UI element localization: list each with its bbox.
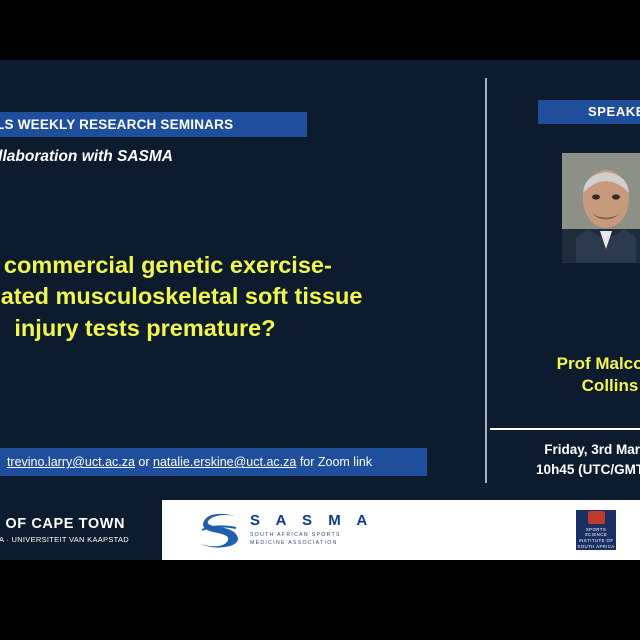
sasma-logo: S A S M A SOUTH AFRICAN SPORTS MEDICINE … — [188, 508, 438, 552]
sasma-name: S A S M A — [250, 512, 373, 529]
slide-canvas: HPALS WEEKLY RESEARCH SEMINARS In collab… — [0, 60, 640, 560]
speaker-name-line-2: Collins — [520, 375, 640, 397]
speaker-portrait — [562, 153, 640, 263]
seminar-date: Friday, 3rd March — [500, 440, 640, 460]
collaboration-text: In collaboration with SASMA — [0, 148, 173, 166]
uct-logo-subtitle: IYUNIVESITHI YASEKAPA · UNIVERSITEIT VAN… — [0, 535, 129, 544]
uct-logo-name: UNIVERSITY OF CAPE TOWN — [0, 516, 125, 532]
contact-email-1[interactable]: trevino.larry@uct.ac.za — [7, 455, 135, 469]
horizontal-rule — [490, 428, 640, 430]
speaker-banner: SPEAKER — [538, 100, 640, 124]
speaker-name: Prof Malcolm Collins — [520, 353, 640, 397]
contact-suffix: for Zoom link — [296, 455, 372, 469]
seminar-banner-label: HPALS WEEKLY RESEARCH SEMINARS — [0, 112, 307, 137]
presentation-slide: HPALS WEEKLY RESEARCH SEMINARS In collab… — [0, 60, 640, 560]
contact-bar: trevino.larry@uct.ac.za or natalie.erski… — [0, 448, 427, 476]
ssisa-label: SPORTS SCIENCE INSTITUTE OF SOUTH AFRICA — [576, 527, 616, 550]
sasma-tagline-line-1: SOUTH AFRICAN SPORTS — [250, 532, 373, 540]
contact-email-2[interactable]: natalie.erskine@uct.ac.za — [153, 455, 296, 469]
speaker-name-line-1: Prof Malcolm — [520, 353, 640, 375]
ssisa-badge-icon — [588, 511, 605, 524]
uct-logo: UNIVERSITY OF CAPE TOWN IYUNIVESITHI YAS… — [0, 500, 162, 560]
seminar-title: Are commercial genetic exercise-associat… — [0, 250, 380, 344]
ssisa-logo: SPORTS SCIENCE INSTITUTE OF SOUTH AFRICA — [576, 510, 616, 550]
sasma-tagline: SOUTH AFRICAN SPORTS MEDICINE ASSOCIATIO… — [250, 532, 373, 548]
sasma-wordmark: S A S M A SOUTH AFRICAN SPORTS MEDICINE … — [250, 512, 373, 548]
video-frame: HPALS WEEKLY RESEARCH SEMINARS In collab… — [0, 0, 640, 640]
portrait-photo — [562, 153, 640, 263]
vertical-divider — [485, 78, 487, 483]
sasma-tagline-line-2: MEDICINE ASSOCIATION — [250, 540, 373, 548]
sasma-swoosh-icon — [192, 510, 244, 550]
seminar-banner: HPALS WEEKLY RESEARCH SEMINARS — [0, 112, 307, 137]
seminar-datetime: Friday, 3rd March 10h45 (UTC/GMT+2) — [500, 440, 640, 479]
logo-footer: UNIVERSITY OF CAPE TOWN IYUNIVESITHI YAS… — [0, 500, 640, 560]
contact-or: or — [135, 455, 153, 469]
seminar-time: 10h45 (UTC/GMT+2) — [500, 460, 640, 480]
